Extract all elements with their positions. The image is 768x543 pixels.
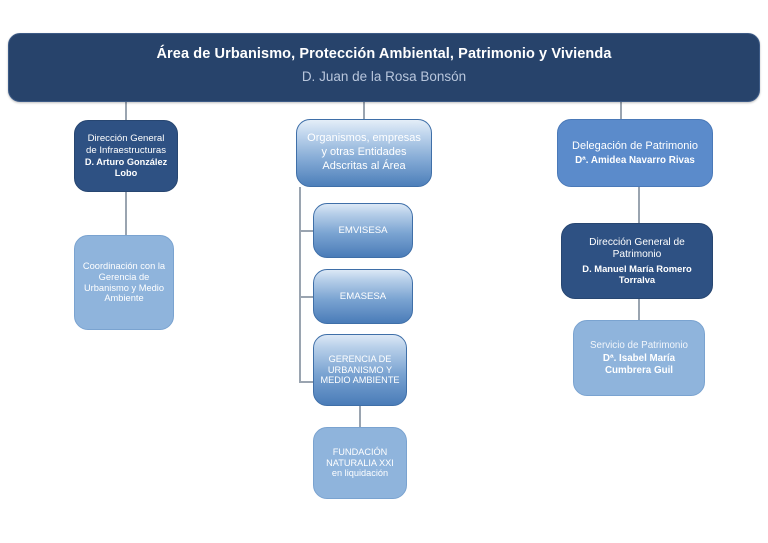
node-title: FUNDACIÓN NATURALIA XXI en liquidación [320, 447, 400, 480]
connector-right-1-to-2 [638, 187, 640, 224]
node-title: Dirección General de Infraestructuras [81, 133, 171, 156]
node-person: D. Manuel María Romero Torralva [568, 263, 706, 285]
node-title: Servicio de Patrimonio [590, 340, 688, 352]
connector-right-2-to-3 [638, 299, 640, 321]
org-chart-canvas: Área de Urbanismo, Protección Ambiental,… [0, 0, 768, 543]
connector-center-stub-gerencia [299, 381, 314, 383]
connector-left-1-to-2 [125, 192, 127, 236]
node-servicio-patrimonio[interactable]: Servicio de Patrimonio Dª. Isabel María … [573, 320, 705, 396]
node-person: D. Arturo González Lobo [81, 157, 171, 179]
connector-center-stub-emvisesa [299, 230, 314, 232]
header-person: D. Juan de la Rosa Bonsón [302, 69, 466, 84]
connector-header-to-left [125, 102, 127, 122]
node-person: Dª. Isabel María Cumbrera Guil [580, 353, 698, 376]
node-title: EMVISESA [338, 225, 387, 236]
node-gerencia-urbanismo-medio-ambiente[interactable]: GERENCIA DE URBANISMO Y MEDIO AMBIENTE [313, 334, 407, 406]
node-title: Delegación de Patrimonio [572, 139, 698, 153]
node-person: Dª. Amidea Navarro Rivas [575, 155, 695, 167]
node-title: Organismos, empresas y otras Entidades A… [303, 132, 425, 173]
node-emvisesa[interactable]: EMVISESA [313, 203, 413, 258]
connector-center-spine [299, 187, 301, 382]
node-title: GERENCIA DE URBANISMO Y MEDIO AMBIENTE [320, 354, 400, 387]
connector-center-stub-emasesa [299, 296, 314, 298]
node-title: EMASESA [340, 291, 386, 302]
node-fundacion-naturalia-xxi[interactable]: FUNDACIÓN NATURALIA XXI en liquidación [313, 427, 407, 499]
node-direccion-general-patrimonio[interactable]: Dirección General de Patrimonio D. Manue… [561, 223, 713, 299]
header-title: Área de Urbanismo, Protección Ambiental,… [156, 46, 611, 62]
node-direccion-general-infraestructuras[interactable]: Dirección General de Infraestructuras D.… [74, 120, 178, 192]
node-emasesa[interactable]: EMASESA [313, 269, 413, 324]
header-banner: Área de Urbanismo, Protección Ambiental,… [8, 33, 760, 102]
node-title: Dirección General de Patrimonio [568, 237, 706, 261]
node-coordinacion-gerencia[interactable]: Coordinación con la Gerencia de Urbanism… [74, 235, 174, 330]
node-organismos-entidades-adscritas[interactable]: Organismos, empresas y otras Entidades A… [296, 119, 432, 187]
node-delegacion-patrimonio[interactable]: Delegación de Patrimonio Dª. Amidea Nava… [557, 119, 713, 187]
node-title: Coordinación con la Gerencia de Urbanism… [81, 261, 167, 305]
connector-gerencia-to-fundacion [359, 406, 361, 428]
